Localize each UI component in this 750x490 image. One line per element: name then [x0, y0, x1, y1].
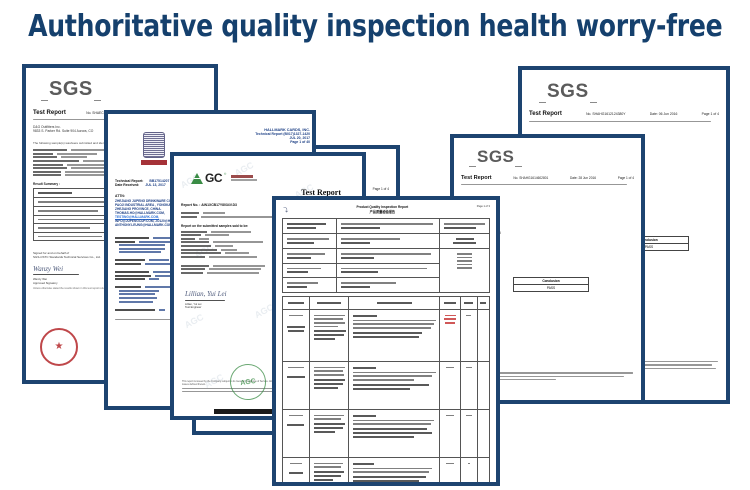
sgs-logo-text: SGS: [477, 147, 514, 166]
table-row: [283, 409, 490, 457]
conclusion-header: Conclusion: [514, 278, 589, 285]
page-title: Authoritative quality inspection health …: [28, 9, 722, 44]
red-seal-icon: ★: [40, 328, 78, 366]
agc-logo-text: GC: [205, 172, 222, 184]
conclusion-table: Conclusion PASS: [513, 277, 589, 292]
info-table: [282, 218, 490, 293]
document-subtitle: 产品质量检验报告: [288, 209, 477, 214]
sgs-logo-text: SGS: [49, 78, 93, 100]
sgs-logo-tick-left: [539, 102, 546, 103]
table-header-row: [283, 296, 490, 309]
seal-star-icon: ★: [55, 342, 64, 352]
table-row: [283, 457, 490, 482]
table-row: [283, 361, 490, 409]
results-table: [282, 296, 490, 482]
date-received-label: Date Received:: [115, 183, 139, 187]
date-received-value: JUL 13, 2017: [145, 183, 166, 187]
green-stamp-icon: AGC: [228, 362, 269, 403]
agc-triangle-icon: [191, 173, 203, 184]
document-title: Test Report: [461, 175, 492, 181]
page-number: Page 1 of 4: [702, 112, 719, 116]
report-date: Date: 28 Jun 2016: [570, 176, 596, 180]
report-no-value: AIN1XCB17Y8034V.D3: [201, 203, 237, 207]
page-number: Page 1 of 3: [477, 205, 490, 208]
agc-logo: GC ®: [191, 172, 355, 184]
sgs-logo-text: SGS: [547, 81, 589, 102]
cqc-emblem-icon: [139, 132, 169, 165]
page-number: Page 1 of 4: [618, 176, 634, 180]
sgs-logo: SGS: [477, 148, 514, 165]
sgs-logo-tick-right: [590, 102, 597, 103]
sgs-logo-tick-right: [515, 166, 522, 167]
report-no-label: Report No. :: [181, 203, 200, 207]
sgs-logo: SGS: [547, 82, 589, 101]
tested-by-title: Test Engineer: [185, 306, 268, 309]
table-row: [283, 309, 490, 361]
report-date: Date: 06 Jun 2016: [650, 112, 678, 116]
sgs-logo-tick-left: [469, 166, 476, 167]
report-number: No. SHAHG1612124380Y: [586, 112, 625, 116]
sgs-logo: SGS: [49, 79, 93, 99]
sgs-logo-tick-left: [41, 100, 48, 101]
report-number: No. SHAHG1614602801: [513, 176, 548, 180]
form-logo: ⤵: [282, 205, 288, 214]
document-title: Test Report: [529, 111, 562, 117]
agc-logo-chinese: [231, 175, 257, 181]
tested-by-signature: Lillian, Yui Lei: [185, 290, 268, 298]
page-number: Page 1 of 4: [373, 187, 389, 191]
document-title: Test Report: [33, 110, 66, 116]
sgs-logo-tick-right: [94, 100, 101, 101]
page-number: Page 1 of 40: [200, 140, 310, 144]
certificate-center-form[interactable]: ⤵ Product Quality Inspection Report 产品质量…: [272, 196, 500, 486]
page-header: Authoritative quality inspection health …: [0, 0, 750, 52]
conclusion-value: PASS: [514, 285, 589, 292]
